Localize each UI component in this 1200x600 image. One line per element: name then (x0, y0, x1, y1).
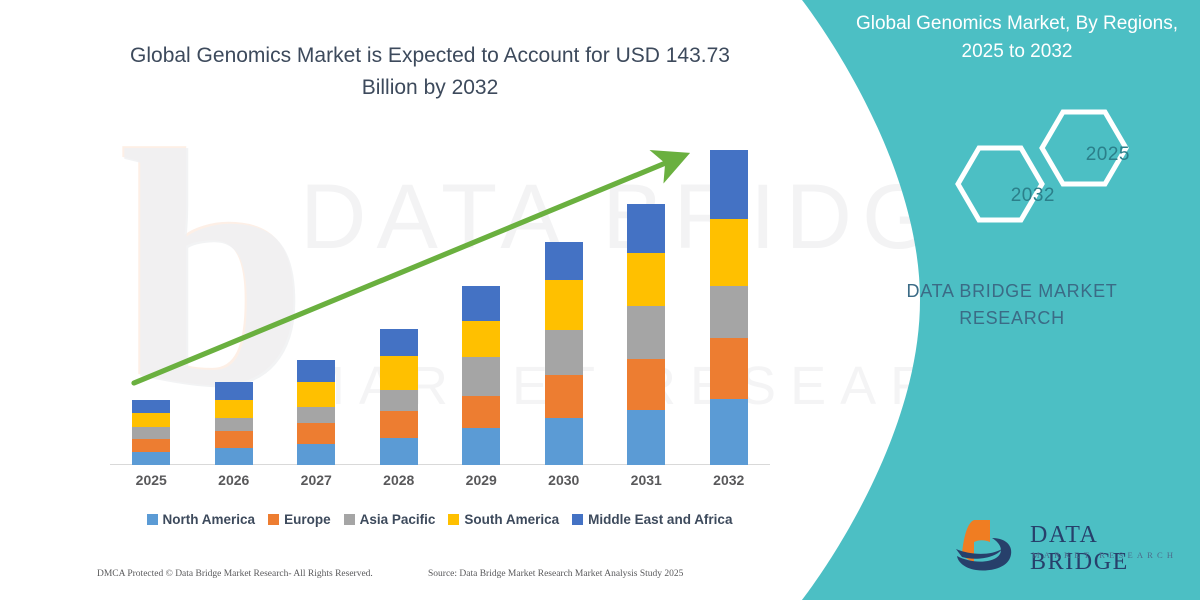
legend-label: Europe (284, 512, 331, 527)
legend-item-north-america[interactable]: North America (147, 512, 256, 527)
bridge-mark-icon (952, 516, 1030, 576)
legend-swatch-icon (147, 514, 158, 525)
legend-label: Middle East and Africa (588, 512, 732, 527)
legend-label: North America (163, 512, 256, 527)
x-axis-label-2030: 2030 (545, 472, 583, 488)
hexagon-label-end: 2032 (1011, 185, 1055, 207)
x-axis-label-2032: 2032 (710, 472, 748, 488)
legend-label: South America (464, 512, 559, 527)
panel-brand-text: DATA BRIDGE MARKET RESEARCH (862, 278, 1162, 332)
x-axis-label-2029: 2029 (462, 472, 500, 488)
hexagon-label-start: 2025 (1086, 144, 1130, 166)
x-axis-label-2031: 2031 (627, 472, 665, 488)
infographic-canvas: b b DATA BRIDGE MARKET RESEARCH Global G… (0, 0, 1200, 600)
logo-wordmark: DATA BRIDGE (1030, 522, 1182, 576)
panel-title: Global Genomics Market, By Regions, 2025… (852, 10, 1182, 66)
logo-tagline: MARKET RESEARCH (1032, 550, 1177, 560)
x-axis-label-2026: 2026 (215, 472, 253, 488)
legend-item-asia-pacific[interactable]: Asia Pacific (344, 512, 436, 527)
legend-item-europe[interactable]: Europe (268, 512, 331, 527)
chart-legend: North AmericaEuropeAsia PacificSouth Ame… (112, 512, 767, 527)
data-bridge-logo: DATA BRIDGE MARKET RESEARCH (952, 516, 1182, 578)
legend-swatch-icon (344, 514, 355, 525)
legend-item-south-america[interactable]: South America (448, 512, 559, 527)
x-axis-label-2028: 2028 (380, 472, 418, 488)
chart-title: Global Genomics Market is Expected to Ac… (105, 40, 755, 104)
x-axis-labels: 20252026202720282029203020312032 (110, 472, 770, 488)
growth-arrow-icon (110, 140, 770, 470)
legend-swatch-icon (572, 514, 583, 525)
x-axis-label-2027: 2027 (297, 472, 335, 488)
legend-label: Asia Pacific (360, 512, 436, 527)
footer-source: Source: Data Bridge Market Research Mark… (428, 569, 683, 579)
footer-copyright: DMCA Protected © Data Bridge Market Rese… (97, 569, 373, 579)
legend-item-middle-east-and-africa[interactable]: Middle East and Africa (572, 512, 732, 527)
legend-swatch-icon (268, 514, 279, 525)
x-axis-label-2025: 2025 (132, 472, 170, 488)
hexagon-pair-icon (945, 108, 1135, 228)
legend-swatch-icon (448, 514, 459, 525)
